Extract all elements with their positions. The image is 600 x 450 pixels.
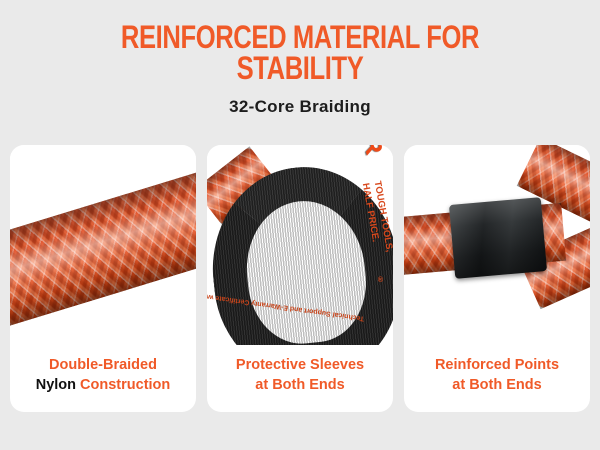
reinforced-point-photo [404, 145, 590, 345]
page-headline: REINFORCED MATERIAL FOR STABILITY [60, 22, 540, 83]
caption-orange-word: Construction [80, 377, 170, 393]
feature-card-double-braided-nylon: Double-Braided Nylon Construction [10, 145, 196, 412]
header: REINFORCED MATERIAL FOR STABILITY 32-Cor… [0, 0, 600, 117]
rope-shading-overlay [10, 156, 196, 338]
card-caption: Double-Braided Nylon Construction [10, 345, 196, 412]
card-caption: Reinforced Points at Both Ends [404, 345, 590, 412]
wrap-gloss-overlay [449, 197, 547, 279]
caption-line-1: Double-Braided [49, 357, 157, 373]
caption-black-word: Nylon [36, 377, 76, 393]
caption-line-1: Protective Sleeves [236, 357, 364, 373]
caption-line-2: at Both Ends [255, 377, 344, 393]
caption-line-1: Reinforced Points [435, 357, 559, 373]
registered-mark: ® [378, 277, 383, 284]
protective-sleeve-photo: VEVOR ® TOUGH TOOLS, HALF PRICE. Technic… [207, 145, 393, 345]
feature-card-protective-sleeves: VEVOR ® TOUGH TOOLS, HALF PRICE. Technic… [207, 145, 393, 412]
braided-rope-strand [10, 156, 196, 338]
feature-card-reinforced-points: Reinforced Points at Both Ends [404, 145, 590, 412]
page-subtitle: 32-Core Braiding [0, 97, 600, 117]
vevor-brand-text: VEVOR [336, 145, 389, 159]
feature-card-row: Double-Braided Nylon Construction VEVOR … [10, 145, 590, 412]
rope-braid-photo [10, 145, 196, 345]
headline-line-2: STABILITY [60, 53, 540, 84]
card-caption: Protective Sleeves at Both Ends [207, 345, 393, 412]
black-reinforcement-wrap [449, 197, 547, 279]
caption-line-2: at Both Ends [452, 377, 541, 393]
